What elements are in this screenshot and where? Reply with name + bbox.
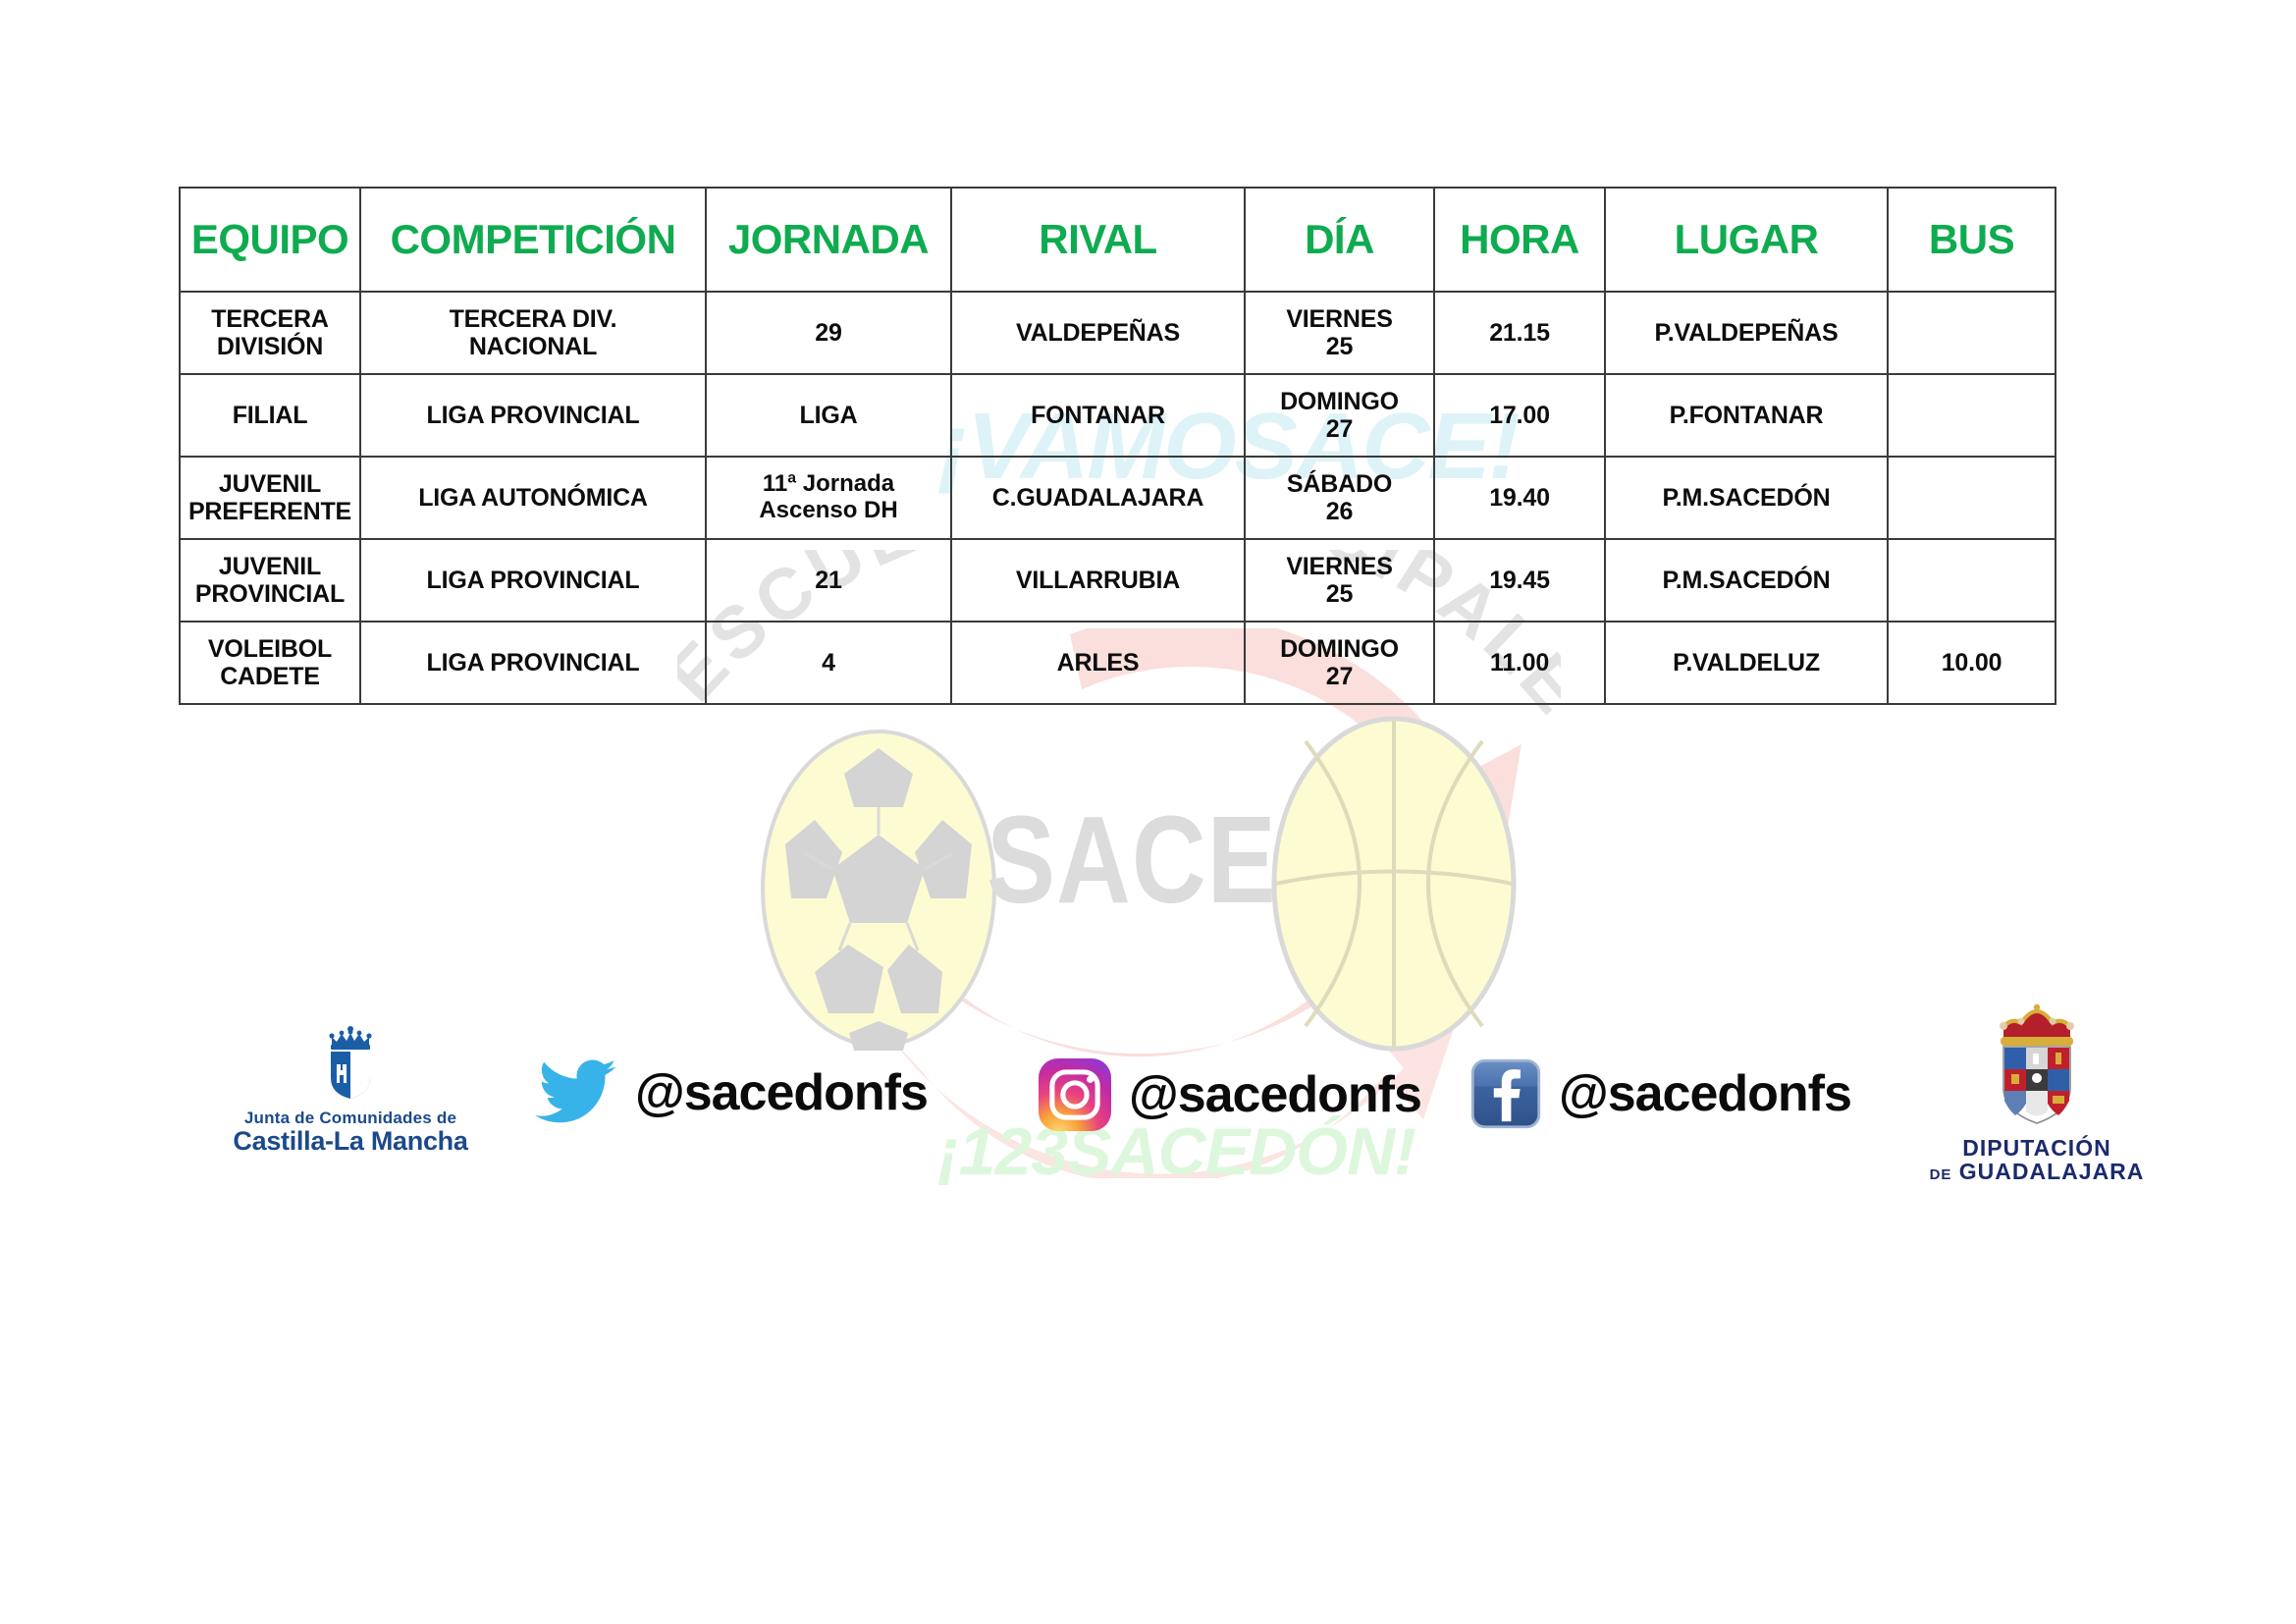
cell-dia: SÁBADO 26 [1245, 457, 1434, 539]
social-facebook[interactable]: @sacedonfs [1470, 1058, 1851, 1129]
cell-jornada: 11ª Jornada Ascenso DH [706, 457, 951, 539]
cell-lugar: P.M.SACEDÓN [1605, 539, 1888, 622]
cell-rival: ARLES [951, 622, 1245, 704]
table-header: EQUIPO COMPETICIÓN JORNADA RIVAL DÍA HOR… [180, 188, 2056, 292]
schedule-table-container: EQUIPO COMPETICIÓN JORNADA RIVAL DÍA HOR… [179, 187, 2056, 705]
watermark-basketball [1266, 712, 1522, 1060]
cell-bus [1888, 292, 2056, 374]
cell-rival: C.GUADALAJARA [951, 457, 1245, 539]
header-row: EQUIPO COMPETICIÓN JORNADA RIVAL DÍA HOR… [180, 188, 2056, 292]
table-row: TERCERA DIVISIÓN TERCERA DIV. NACIONAL 2… [180, 292, 2056, 374]
cell-competicion: TERCERA DIV. NACIONAL [360, 292, 706, 374]
cell-bus [1888, 539, 2056, 622]
twitter-handle[interactable]: @sacedonfs [635, 1063, 928, 1122]
table-row: JUVENIL PREFERENTE LIGA AUTONÓMICA 11ª J… [180, 457, 2056, 539]
diputacion-label-line2: DE GUADALAJARA [1899, 1161, 2174, 1183]
facebook-handle[interactable]: @sacedonfs [1559, 1064, 1851, 1123]
cell-dia: DOMINGO 27 [1245, 374, 1434, 457]
cell-dia: VIERNES 25 [1245, 292, 1434, 374]
column-header-bus: BUS [1888, 188, 2056, 292]
cell-lugar: P.VALDELUZ [1605, 622, 1888, 704]
cell-bus: 10.00 [1888, 622, 2056, 704]
schedule-table: EQUIPO COMPETICIÓN JORNADA RIVAL DÍA HOR… [179, 187, 2056, 705]
column-header-hora: HORA [1434, 188, 1605, 292]
cell-lugar: P.VALDEPEÑAS [1605, 292, 1888, 374]
table-row: JUVENIL PROVINCIAL LIGA PROVINCIAL 21 VI… [180, 539, 2056, 622]
column-header-competicion: COMPETICIÓN [360, 188, 706, 292]
cell-jornada: LIGA [706, 374, 951, 457]
cell-lugar: P.M.SACEDÓN [1605, 457, 1888, 539]
cell-competicion: LIGA PROVINCIAL [360, 374, 706, 457]
column-header-jornada: JORNADA [706, 188, 951, 292]
cell-jornada: 29 [706, 292, 951, 374]
cell-competicion: LIGA PROVINCIAL [360, 539, 706, 622]
column-header-lugar: LUGAR [1605, 188, 1888, 292]
cell-bus [1888, 457, 2056, 539]
cell-rival: FONTANAR [951, 374, 1245, 457]
cell-hora: 11.00 [1434, 622, 1605, 704]
cell-hora: 19.40 [1434, 457, 1605, 539]
cell-jornada: 21 [706, 539, 951, 622]
cell-equipo: JUVENIL PROVINCIAL [180, 539, 360, 622]
cell-rival: VALDEPEÑAS [951, 292, 1245, 374]
watermark-sacedon-text: SACEDÓN [987, 790, 1509, 932]
cell-equipo: FILIAL [180, 374, 360, 457]
social-instagram[interactable]: @sacedonfs [1039, 1058, 1421, 1131]
cell-competicion: LIGA AUTONÓMICA [360, 457, 706, 539]
cell-hora: 17.00 [1434, 374, 1605, 457]
diputacion-label-guadalajara: GUADALAJARA [1959, 1159, 2145, 1184]
column-header-equipo: EQUIPO [180, 188, 360, 292]
diputacion-crest-icon [1982, 1001, 2092, 1127]
cell-dia: DOMINGO 27 [1245, 622, 1434, 704]
logo-diputacion-guadalajara: DIPUTACIÓN DE GUADALAJARA [1899, 1001, 2174, 1183]
cell-equipo: TERCERA DIVISIÓN [180, 292, 360, 374]
jccm-crest-icon [316, 1023, 385, 1100]
footer: Junta de Comunidades de Castilla-La Manc… [0, 1001, 2296, 1218]
cell-equipo: JUVENIL PREFERENTE [180, 457, 360, 539]
table-row: FILIAL LIGA PROVINCIAL LIGA FONTANAR DOM… [180, 374, 2056, 457]
cell-jornada: 4 [706, 622, 951, 704]
table-row: VOLEIBOL CADETE LIGA PROVINCIAL 4 ARLES … [180, 622, 2056, 704]
jccm-label-line2: Castilla-La Mancha [228, 1128, 473, 1155]
cell-competicion: LIGA PROVINCIAL [360, 622, 706, 704]
cell-rival: VILLARRUBIA [951, 539, 1245, 622]
watermark-soccer-ball [756, 727, 1001, 1056]
diputacion-label-line1: DIPUTACIÓN [1899, 1137, 2174, 1160]
cell-hora: 19.45 [1434, 539, 1605, 622]
diputacion-label-de: DE [1930, 1166, 1952, 1183]
cell-hora: 21.15 [1434, 292, 1605, 374]
arrow-bottom-arc [893, 1001, 1463, 1178]
social-twitter[interactable]: @sacedonfs [535, 1058, 928, 1127]
logo-junta-castilla-la-mancha: Junta de Comunidades de Castilla-La Manc… [228, 1023, 473, 1155]
cell-equipo: VOLEIBOL CADETE [180, 622, 360, 704]
jccm-label-line1: Junta de Comunidades de [228, 1110, 473, 1126]
watermark-arrows [775, 628, 1541, 1178]
watermark-123-sacedon: ¡123SACEDÓN! [937, 1113, 1415, 1190]
instagram-icon[interactable] [1039, 1058, 1111, 1131]
cell-lugar: P.FONTANAR [1605, 374, 1888, 457]
arrow-bottom-left [846, 810, 1463, 1056]
facebook-icon[interactable] [1470, 1058, 1541, 1129]
table-body: TERCERA DIVISIÓN TERCERA DIV. NACIONAL 2… [180, 292, 2056, 704]
twitter-icon[interactable] [535, 1058, 617, 1127]
column-header-dia: DÍA [1245, 188, 1434, 292]
cell-dia: VIERNES 25 [1245, 539, 1434, 622]
cell-bus [1888, 374, 2056, 457]
column-header-rival: RIVAL [951, 188, 1245, 292]
instagram-handle[interactable]: @sacedonfs [1129, 1065, 1421, 1124]
